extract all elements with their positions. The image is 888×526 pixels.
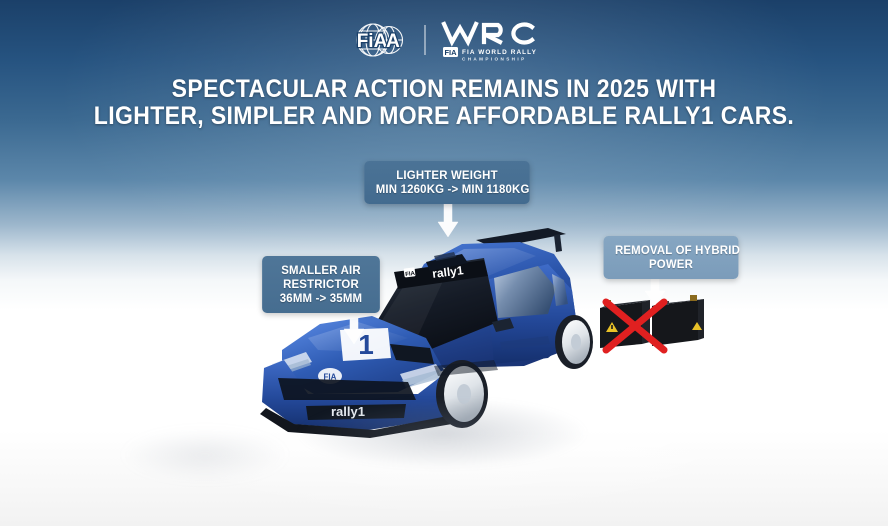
- callout-restrictor-line3: 36MM -> 35MM: [274, 291, 369, 305]
- logo-bar: FiA A FIA FIA WORLD RALLY CHAMPIONSHIP: [0, 16, 888, 64]
- callout-lighter-weight-line2: MIN 1260KG -> MIN 1180KG: [376, 182, 519, 196]
- callout-lighter-weight[interactable]: LIGHTER WEIGHT MIN 1260KG -> MIN 1180KG: [364, 161, 529, 204]
- wrc-logo-fia-badge: FIA: [444, 48, 457, 57]
- wrc-logo-line2: CHAMPIONSHIP: [462, 57, 527, 62]
- wrc-logo: FIA FIA WORLD RALLY CHAMPIONSHIP: [440, 18, 536, 62]
- fia-logo-text: FiA: [357, 31, 388, 52]
- page-title: SPECTACULAR ACTION REMAINS IN 2025 WITH …: [36, 76, 853, 130]
- wrc-logo-line1: FIA WORLD RALLY: [462, 49, 536, 56]
- car-rear-wheel: [555, 315, 593, 369]
- logo-divider: [424, 25, 426, 55]
- rally1-car: FIA rally1 1 FIA: [248, 218, 648, 438]
- fia-logo: FiA A: [352, 18, 410, 62]
- headline-line-2: LIGHTER, SIMPLER AND MORE AFFORDABLE RAL…: [36, 103, 853, 130]
- svg-text:A: A: [386, 31, 400, 52]
- callout-hybrid-line1: REMOVAL OF HYBRID: [615, 243, 727, 257]
- callout-restrictor-line2: RESTRICTOR: [274, 277, 369, 291]
- infographic-canvas: FiA A FIA FIA WORLD RALLY CHAMPIONSHIP S…: [0, 0, 888, 526]
- callout-smaller-air-restrictor[interactable]: SMALLER AIR RESTRICTOR 36MM -> 35MM: [262, 256, 380, 313]
- headline-line-1: SPECTACULAR ACTION REMAINS IN 2025 WITH: [36, 76, 853, 103]
- callout-lighter-weight-line1: LIGHTER WEIGHT: [376, 168, 519, 182]
- car-grille-logo: rally1: [331, 404, 365, 419]
- callout-restrictor-line1: SMALLER AIR: [274, 263, 369, 277]
- car-grille-text: rally1: [331, 404, 365, 419]
- callout-hybrid-line2: POWER: [615, 257, 727, 271]
- car-banner-fia: FIA: [405, 271, 416, 278]
- callout-removal-of-hybrid-power[interactable]: REMOVAL OF HYBRID POWER: [604, 236, 739, 279]
